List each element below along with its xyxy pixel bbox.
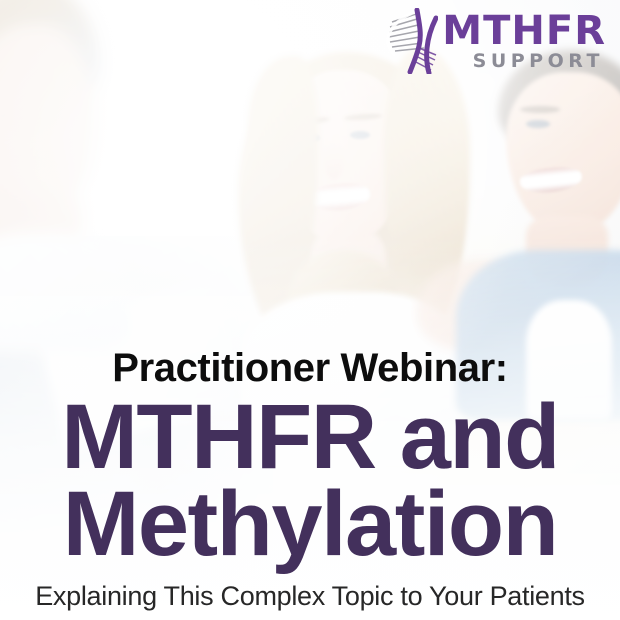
page-title: MTHFR and Methylation	[6, 394, 614, 569]
subtitle-text: Explaining This Complex Topic to Your Pa…	[6, 582, 614, 612]
eyebrow-text: Practitioner Webinar:	[6, 348, 614, 388]
headline-line-2: Methylation	[6, 481, 614, 568]
logo-main-text: MTHFR	[442, 12, 606, 50]
dna-helix-icon	[386, 8, 438, 74]
logo-sub-text: SUPPORT	[473, 51, 606, 72]
logo-wordmark: MTHFR SUPPORT	[442, 8, 606, 72]
webinar-poster: MTHFR SUPPORT Practitioner Webinar: MTHF…	[0, 0, 620, 620]
mthfr-support-logo: MTHFR SUPPORT	[386, 8, 606, 74]
poster-text-block: Practitioner Webinar: MTHFR and Methylat…	[0, 348, 620, 612]
